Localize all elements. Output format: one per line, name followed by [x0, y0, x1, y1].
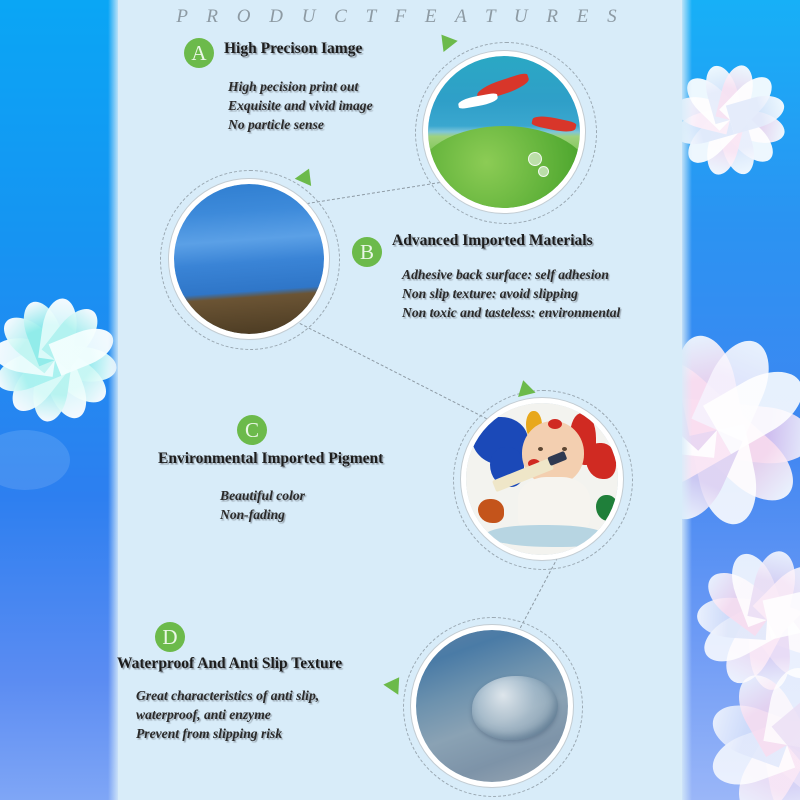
left-decorative-band: [0, 0, 118, 800]
bullet-d-1: Great characteristics of anti slip,: [136, 687, 319, 706]
feature-heading-d: Waterproof And Anti Slip Texture: [117, 655, 342, 673]
arrow-marker-d: [383, 672, 406, 695]
feature-badge-d: D: [155, 622, 185, 652]
product-features-infographic: P R O D U C T F E A T U R E S A High Pre…: [0, 0, 800, 800]
feature-bullets-c: Beautiful color Non-fading: [220, 487, 305, 525]
bullet-d-3: Prevent from slipping risk: [136, 725, 319, 744]
feature-photo-c: [466, 403, 618, 555]
feature-photo-a: [428, 56, 580, 208]
left-glow-blob: [0, 430, 70, 490]
bullet-b-1: Adhesive back surface: self adhesion: [402, 266, 620, 285]
page-title: P R O D U C T F E A T U R E S: [0, 6, 800, 28]
arrow-marker-b: [295, 165, 318, 186]
feature-heading-b: Advanced Imported Materials: [392, 232, 593, 250]
bullet-d-2: waterproof, anti enzyme: [136, 706, 319, 725]
feature-badge-c: C: [237, 415, 267, 445]
feature-photo-b: [174, 184, 324, 334]
bullet-c-1: Beautiful color: [220, 487, 305, 506]
bullet-a-1: High pecision print out: [228, 78, 373, 97]
feature-photo-d: [416, 630, 568, 782]
bullet-a-3: No particle sense: [228, 116, 373, 135]
bullet-c-2: Non-fading: [220, 506, 305, 525]
bullet-b-2: Non slip texture: avoid slipping: [402, 285, 620, 304]
feature-badge-b: B: [352, 237, 382, 267]
bullet-b-3: Non toxic and tasteless: environmental: [402, 304, 620, 323]
right-decorative-band: [682, 0, 800, 800]
feature-heading-c: Environmental Imported Pigment: [158, 450, 383, 468]
feature-badge-a: A: [184, 38, 214, 68]
feature-bullets-b: Adhesive back surface: self adhesion Non…: [402, 266, 620, 322]
feature-bullets-a: High pecision print out Exquisite and vi…: [228, 78, 373, 134]
arrow-marker-a: [434, 29, 457, 52]
feature-heading-a: High Precison Iamge: [224, 40, 362, 58]
feature-bullets-d: Great characteristics of anti slip, wate…: [136, 687, 319, 743]
connector-b-to-c: [300, 323, 492, 421]
bullet-a-2: Exquisite and vivid image: [228, 97, 373, 116]
